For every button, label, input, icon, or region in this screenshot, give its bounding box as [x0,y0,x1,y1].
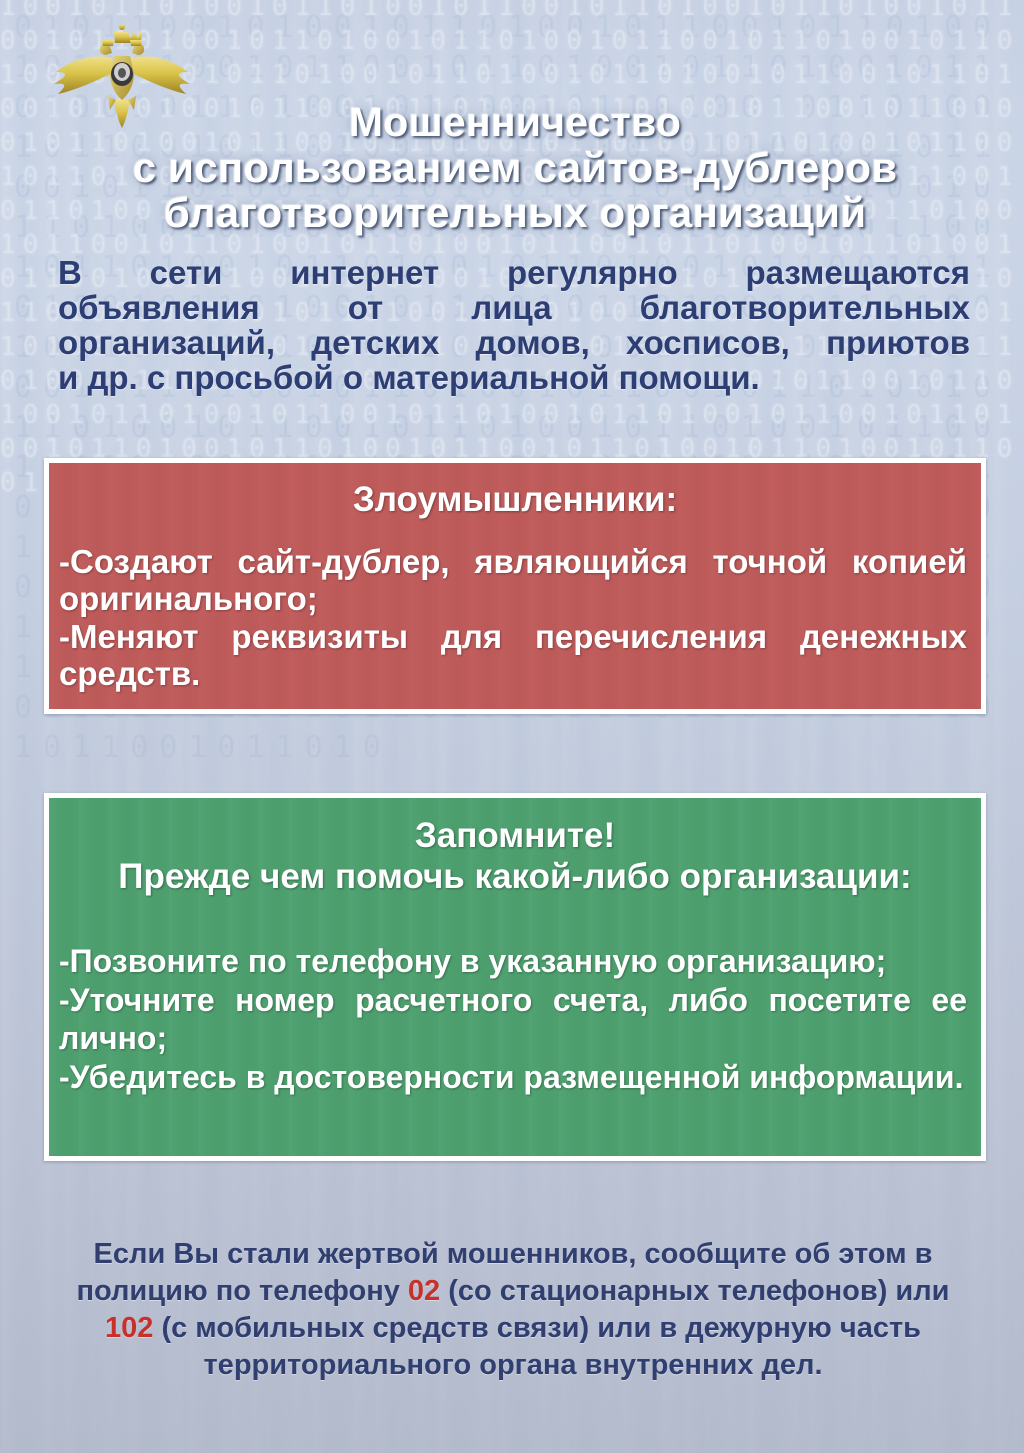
footer-line-2: полицию по телефону 02 (со стационарных … [60,1273,966,1310]
green-bullet-2-line-1: -Уточните номер расчетного счета, либо п… [59,981,967,1019]
intro-line-3: организаций, детских домов, хосписов, пр… [58,325,970,360]
offenders-red-panel: Злоумышленники: -Создают сайт-дублер, яв… [44,458,986,714]
intro-paragraph: В сети интернет регулярно размещаются об… [58,255,970,395]
green-bullet-2: -Уточните номер расчетного счета, либо п… [59,981,967,1057]
footer-line-3-suffix: (с мобильных средств связи) или в дежурн… [153,1312,921,1344]
report-footer: Если Вы стали жертвой мошенников, сообщи… [60,1236,966,1384]
footer-line-2-suffix: (со стационарных телефонов) или [440,1275,949,1307]
red-panel-bullet-list: -Создают сайт-дублер, являющийся точной … [49,543,981,692]
red-bullet-2-line-2: средств. [59,655,967,692]
title-line-3: благотворительных организаций [60,190,970,235]
green-bullet-3-line-1: -Убедитесь в достоверности размещенной и… [59,1058,967,1096]
red-bullet-1: -Создают сайт-дублер, являющийся точной … [59,543,967,617]
title-line-1: Мошенничество [60,100,970,145]
footer-line-2-prefix: полицию по телефону [76,1275,407,1307]
green-bullet-1: -Позвоните по телефону в указанную орган… [59,942,967,980]
landline-phone-number: 02 [408,1275,440,1307]
red-bullet-1-line-2: оригинального; [59,580,967,617]
red-panel-heading: Злоумышленники: [49,480,981,520]
red-bullet-2-line-1: -Меняют реквизиты для перечисления денеж… [59,618,967,655]
poster-content: Мошенничество с использованием сайтов-ду… [0,0,1024,1453]
green-bullet-3: -Убедитесь в достоверности размещенной и… [59,1058,967,1096]
intro-line-2: объявления от лица благотворительных [58,290,970,325]
footer-line-1: Если Вы стали жертвой мошенников, сообщи… [60,1236,966,1273]
poster-title: Мошенничество с использованием сайтов-ду… [60,100,970,235]
green-panel-bullet-list: -Позвоните по телефону в указанную орган… [49,942,981,1096]
footer-line-4: территориального органа внутренних дел. [60,1347,966,1384]
title-line-2: с использованием сайтов-дублеров [60,145,970,190]
green-panel-heading-2: Прежде чем помочь какой-либо организации… [49,856,981,898]
intro-line-1: В сети интернет регулярно размещаются [58,255,970,290]
red-bullet-2: -Меняют реквизиты для перечисления денеж… [59,618,967,692]
green-bullet-2-line-2: лично; [59,1019,967,1057]
poster-root: 0101100101001011010010110010110100101101… [0,0,1024,1453]
green-bullet-1-line-1: -Позвоните по телефону в указанную орган… [59,942,967,980]
red-bullet-1-line-1: -Создают сайт-дублер, являющийся точной … [59,543,967,580]
intro-line-4: и др. с просьбой о материальной помощи. [58,360,970,395]
remember-green-panel: Запомните! Прежде чем помочь какой-либо … [44,793,986,1161]
footer-line-3: 102 (с мобильных средств связи) или в де… [60,1310,966,1347]
mobile-phone-number: 102 [105,1312,153,1344]
green-panel-heading-1: Запомните! [49,816,981,856]
